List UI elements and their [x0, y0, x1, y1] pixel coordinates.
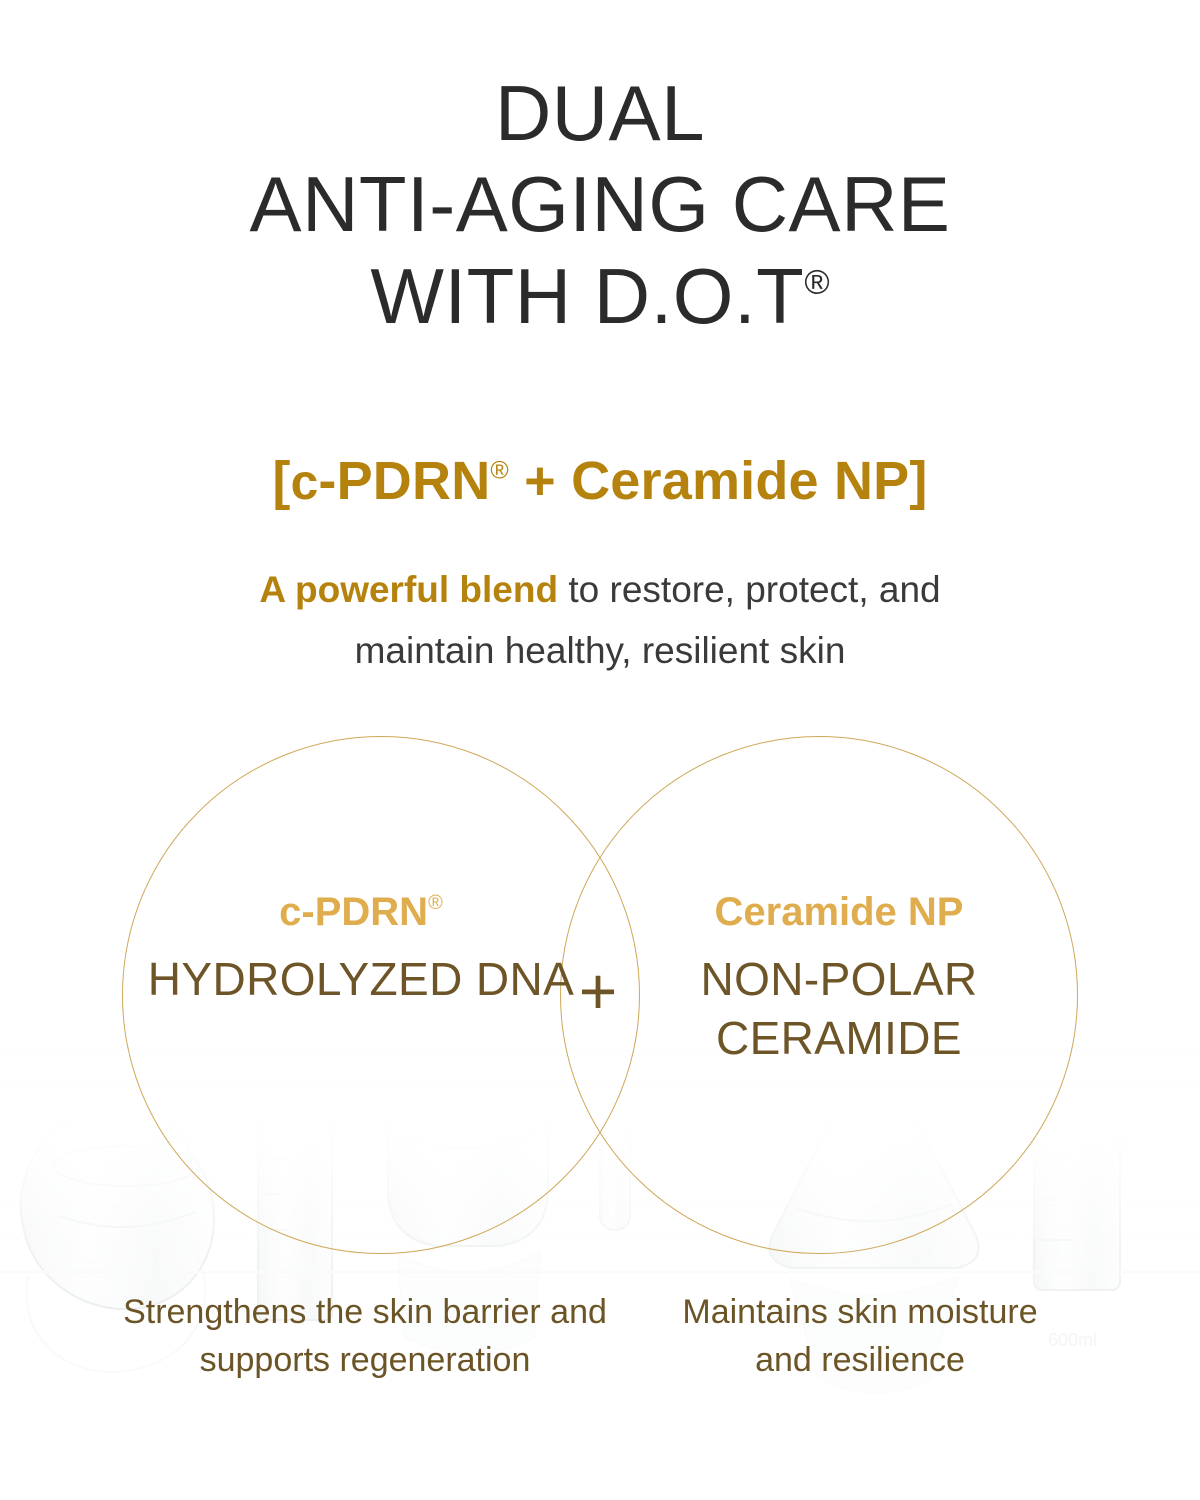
title-line-1: DUAL	[0, 68, 1200, 159]
blend-description: A powerful blend to restore, protect, an…	[100, 560, 1100, 681]
bracket-close: ]	[909, 451, 927, 511]
venn-left-title: HYDROLYZED DNA	[146, 950, 576, 1009]
venn-left-sub-c: c	[279, 890, 301, 934]
caption-right: Maintains skin moisture and resilience	[650, 1288, 1070, 1385]
infographic-page: 500ml 600ml	[0, 0, 1200, 1500]
background-fade-overlay	[0, 1020, 1200, 1240]
title-line-3-text: WITH D.O.T	[370, 252, 804, 340]
plus-operator-icon: +	[566, 952, 630, 1030]
venn-label-right: Ceramide NP NON-POLAR CERAMIDE	[624, 888, 1054, 1068]
title-line-3: WITH D.O.T®	[0, 251, 1200, 342]
bracket-plus: +	[509, 451, 571, 511]
svg-text:500ml: 500ml	[440, 1095, 494, 1117]
venn-label-left: c-PDRN® HYDROLYZED DNA	[146, 888, 576, 1009]
venn-circle-right	[560, 736, 1078, 1254]
caption-left: Strengthens the skin barrier and support…	[110, 1288, 620, 1385]
bracket-c: c	[291, 454, 319, 510]
venn-right-title: NON-POLAR CERAMIDE	[624, 950, 1054, 1068]
venn-circle-left	[122, 736, 640, 1254]
registered-trademark-icon: ®	[804, 263, 829, 301]
title-line-2: ANTI-AGING CARE	[0, 159, 1200, 250]
venn-right-subtitle: Ceramide NP	[624, 888, 1054, 936]
blend-highlight: A powerful blend	[259, 569, 558, 610]
bracket-open: [	[272, 451, 290, 511]
lab-glassware-background: 500ml 600ml	[0, 1040, 1200, 1500]
venn-left-subtitle: c-PDRN®	[146, 888, 576, 936]
page-title: DUAL ANTI-AGING CARE WITH D.O.T®	[0, 68, 1200, 342]
bracket-ceramide: Ceramide NP	[571, 451, 909, 511]
ingredient-bracket-line: [c-PDRN® + Ceramide NP]	[0, 452, 1200, 511]
blend-rest: to restore, protect, and	[558, 569, 941, 610]
registered-trademark-icon: ®	[428, 892, 443, 914]
venn-left-sub-rest: -PDRN	[301, 890, 428, 934]
registered-trademark-icon: ®	[490, 458, 509, 485]
bracket-pdrn: -PDRN	[318, 451, 490, 511]
blend-line-2: maintain healthy, resilient skin	[355, 630, 846, 671]
